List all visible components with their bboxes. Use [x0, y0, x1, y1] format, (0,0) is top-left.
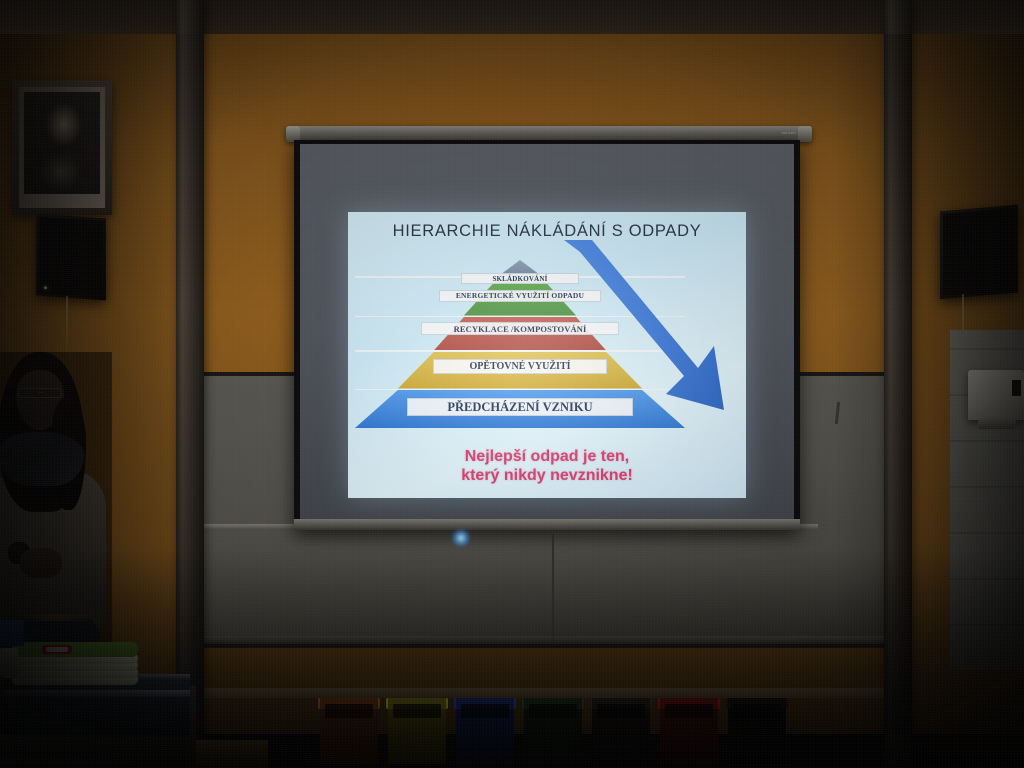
bottom-shadow [0, 548, 1024, 768]
screen-surface: HIERARCHIE NÁKLÁDÁNÍ S ODPADY [300, 144, 794, 520]
pyramid-separator-2 [355, 316, 685, 318]
screen-brand-label: screen [782, 130, 796, 135]
slide-title: HIERARCHIE NÁKLÁDÁNÍ S ODPADY [348, 222, 746, 241]
pyramid-label-energeticke: ENERGETICKÉ VYUŽITÍ ODPADU [439, 290, 601, 302]
pyramid-label-recyklace: RECYKLACE /KOMPOSTOVÁNÍ [421, 322, 619, 335]
classroom-scene: screen HIERARCHIE NÁKLÁDÁNÍ S ODPADY [0, 0, 1024, 768]
pyramid-label-skladkovani: SKLÁDKOVÁNÍ [461, 273, 579, 284]
pyramid-separator-3 [355, 350, 685, 352]
pyramid-label-opetovne: OPĚTOVNÉ VYUŽITÍ [433, 359, 607, 374]
projected-slide: HIERARCHIE NÁKLÁDÁNÍ S ODPADY [348, 212, 746, 498]
projector-led-reflection [451, 528, 471, 548]
housing-cap-right [798, 126, 812, 142]
waste-hierarchy-pyramid: SKLÁDKOVÁNÍ ENERGETICKÉ VYUŽITÍ ODPADU R… [355, 260, 685, 428]
pyramid-separator-4 [355, 389, 685, 391]
slide-caption: Nejlepší odpad je ten, který nikdy nevzn… [348, 447, 746, 486]
screen-weight-bar [294, 519, 800, 530]
slide-caption-line-1: Nejlepší odpad je ten, [348, 447, 746, 467]
pull-down-projection-screen: HIERARCHIE NÁKLÁDÁNÍ S ODPADY [294, 140, 800, 530]
slide-caption-line-2: který nikdy nevznikne! [348, 466, 746, 486]
pyramid-label-predchazeni: PŘEDCHÁZENÍ VZNIKU [407, 398, 633, 416]
